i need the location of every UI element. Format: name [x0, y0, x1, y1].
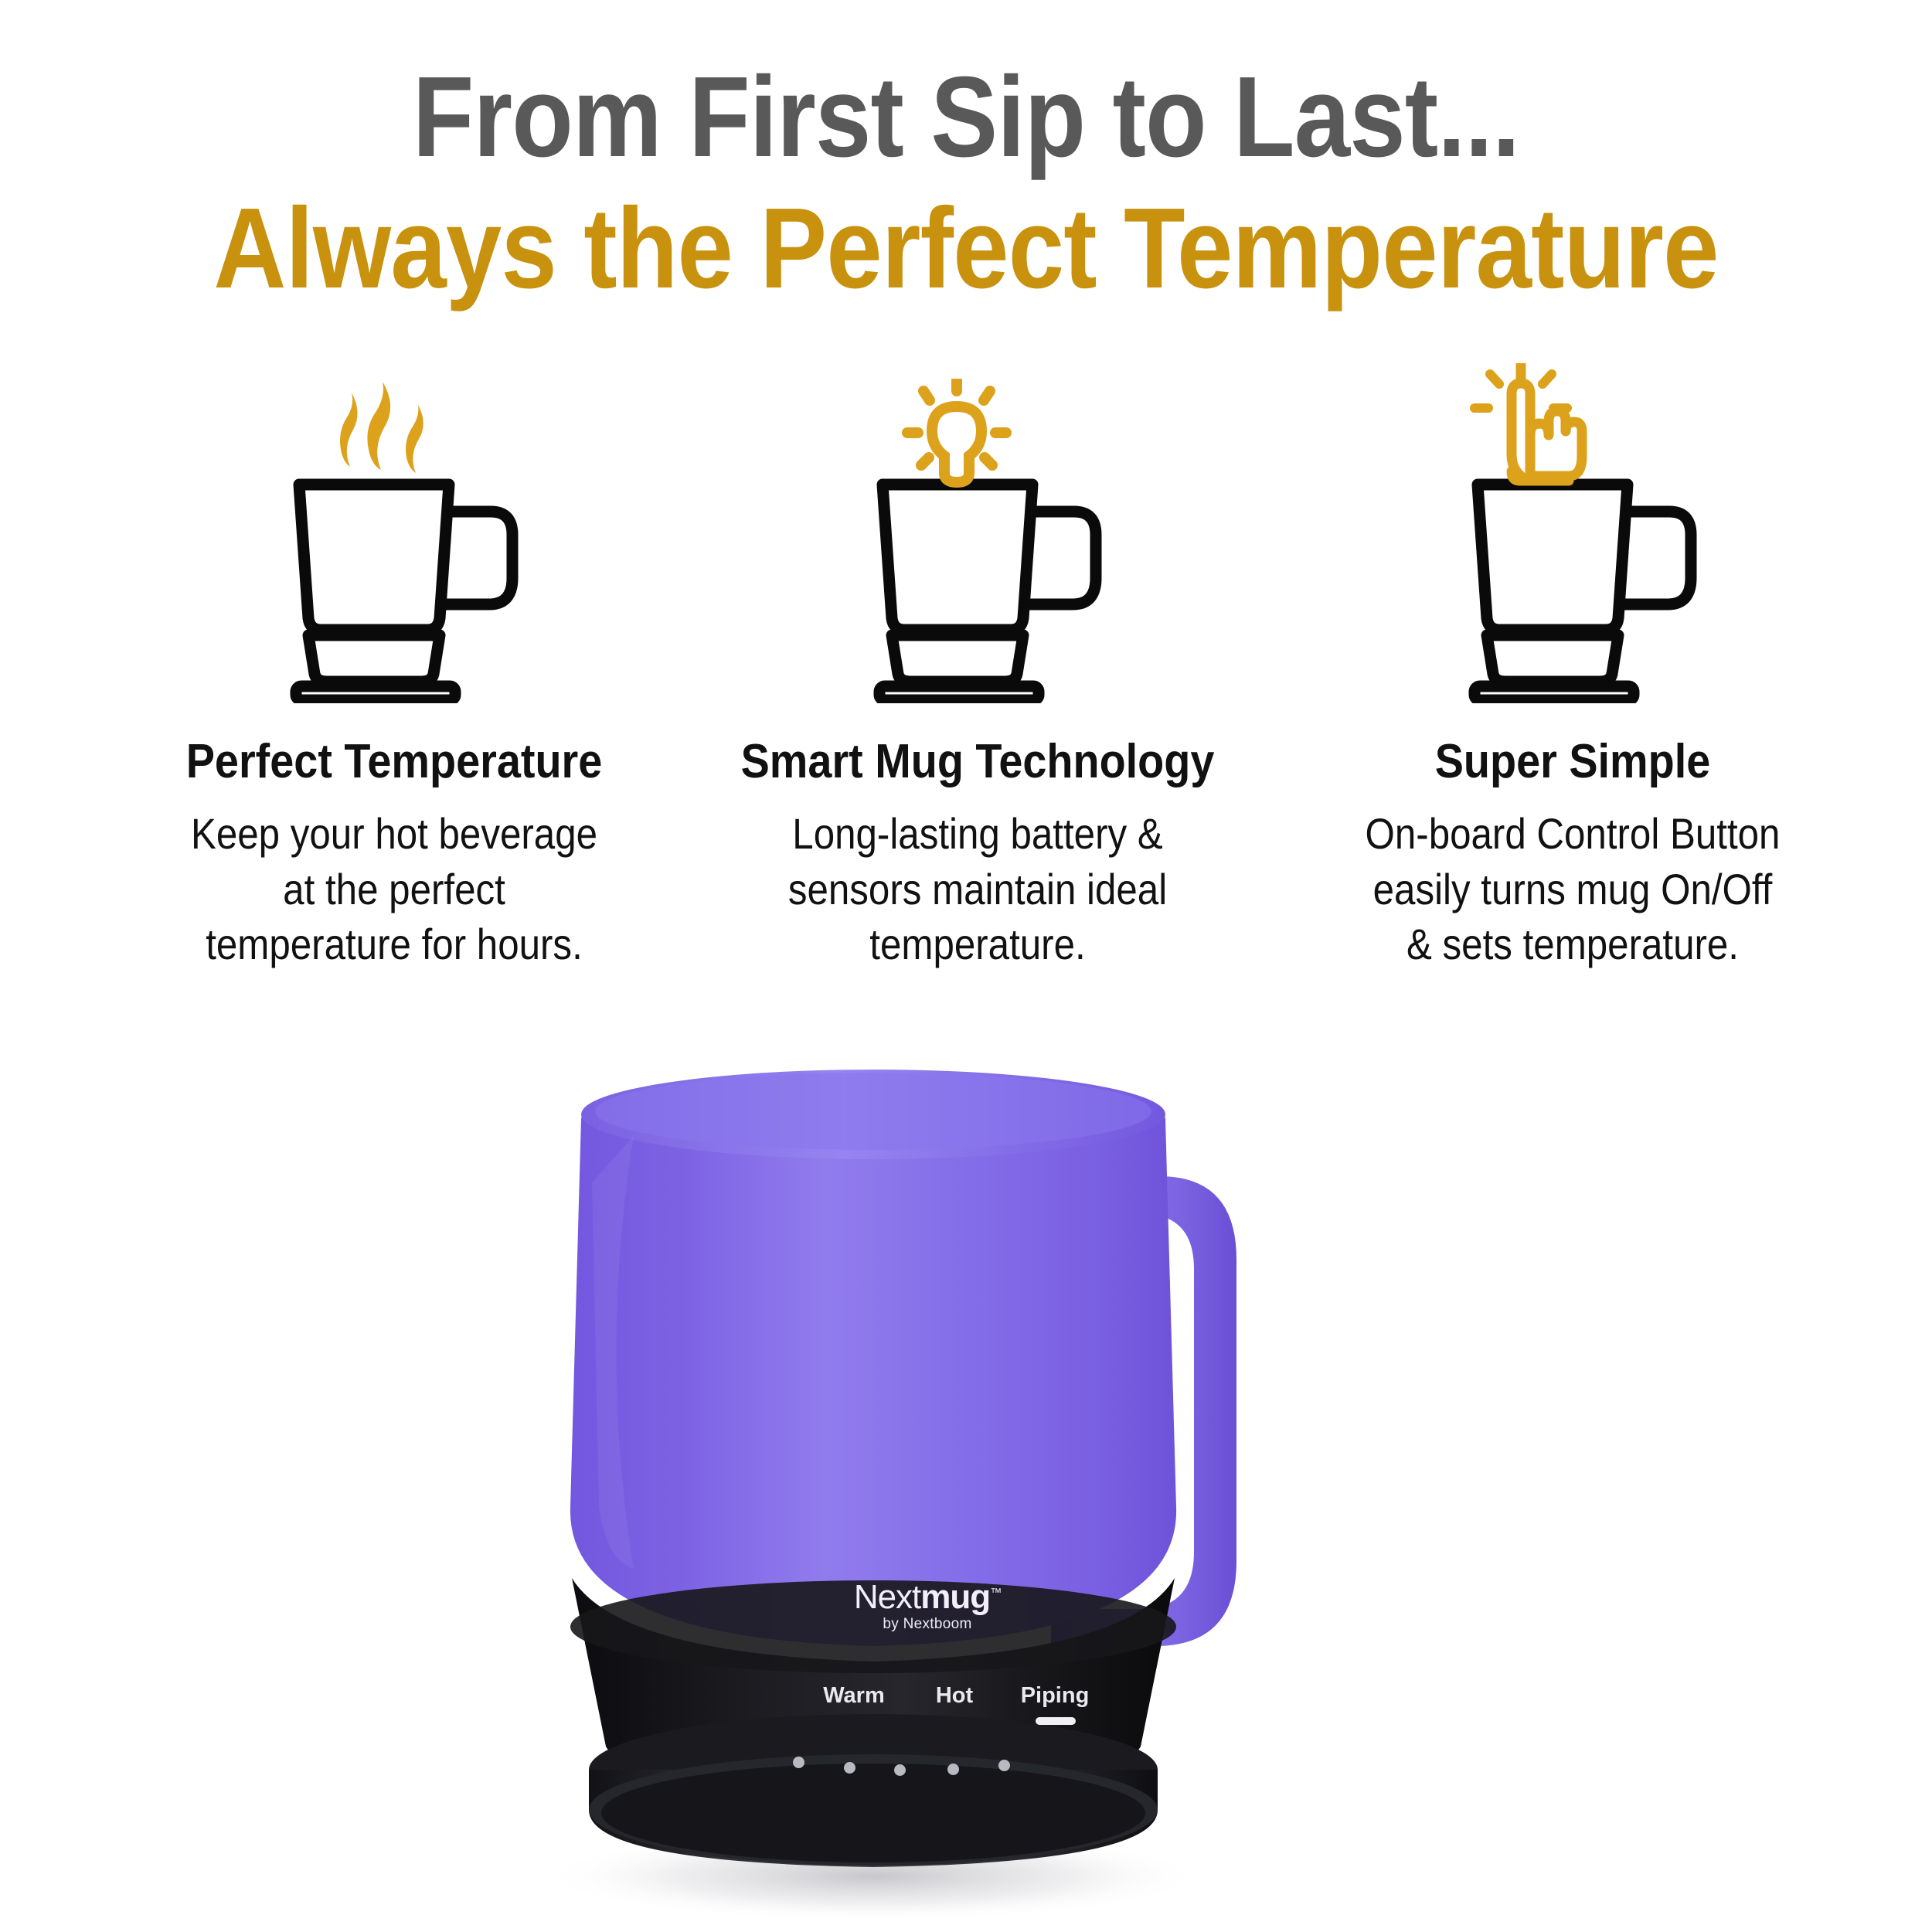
led-indicator	[947, 1764, 959, 1775]
feature-desc-line: at the perfect	[125, 862, 662, 917]
lightbulb-mug-icon	[672, 332, 1283, 703]
headline-line-1: From First Sip to Last...	[116, 60, 1816, 175]
led-indicator	[894, 1764, 906, 1776]
led-indicator	[844, 1762, 855, 1774]
feature-desc-line: Keep your hot beverage	[125, 806, 662, 862]
feature-column-smart-mug-technology: Smart Mug Technology Long-lasting batter…	[672, 332, 1283, 972]
feature-column-perfect-temperature: Perfect Temperature Keep your hot bevera…	[89, 332, 699, 972]
feature-desc-line: On-board Control Button	[1304, 806, 1841, 862]
temp-label-piping[interactable]: Piping	[997, 1683, 1113, 1709]
feature-description: On-board Control Button easily turns mug…	[1304, 806, 1841, 972]
headline-line-2: Always the Perfect Temperature	[116, 192, 1816, 306]
feature-desc-line: temperature.	[709, 917, 1246, 972]
product-photo	[0, 1028, 1932, 1932]
headline-block: From First Sip to Last... Always the Per…	[0, 60, 1932, 306]
feature-title: Perfect Temperature	[120, 734, 669, 789]
led-indicator	[793, 1757, 804, 1768]
feature-description: Long-lasting battery & sensors maintain …	[709, 806, 1246, 972]
feature-desc-line: temperature for hours.	[125, 917, 662, 972]
feature-desc-line: easily turns mug On/Off	[1304, 862, 1841, 917]
selected-setting-indicator	[1036, 1717, 1076, 1725]
temperature-control-labels: Warm Hot Piping	[0, 1683, 1932, 1719]
temp-label-warm[interactable]: Warm	[804, 1683, 904, 1709]
tap-finger-mug-icon	[1267, 332, 1878, 703]
feature-columns: Perfect Temperature Keep your hot bevera…	[0, 332, 1932, 1005]
steaming-mug-icon	[89, 332, 699, 703]
feature-desc-line: & sets temperature.	[1304, 917, 1841, 972]
led-indicator	[998, 1760, 1010, 1771]
mug-rim-inner	[595, 1073, 1151, 1150]
feature-title: Smart Mug Technology	[703, 734, 1253, 789]
feature-desc-line: sensors maintain ideal	[709, 862, 1246, 917]
coaster-bottom-inner	[601, 1764, 1145, 1862]
temp-label-hot[interactable]: Hot	[912, 1683, 997, 1709]
product-feature-graphic: From First Sip to Last... Always the Per…	[0, 0, 1932, 1932]
mug-base-top-edge	[570, 1580, 1176, 1673]
feature-title: Super Simple	[1298, 734, 1848, 789]
feature-desc-line: Long-lasting battery &	[709, 806, 1246, 862]
feature-column-super-simple: Super Simple On-board Control Button eas…	[1267, 332, 1878, 972]
feature-description: Keep your hot beverage at the perfect te…	[125, 806, 662, 972]
